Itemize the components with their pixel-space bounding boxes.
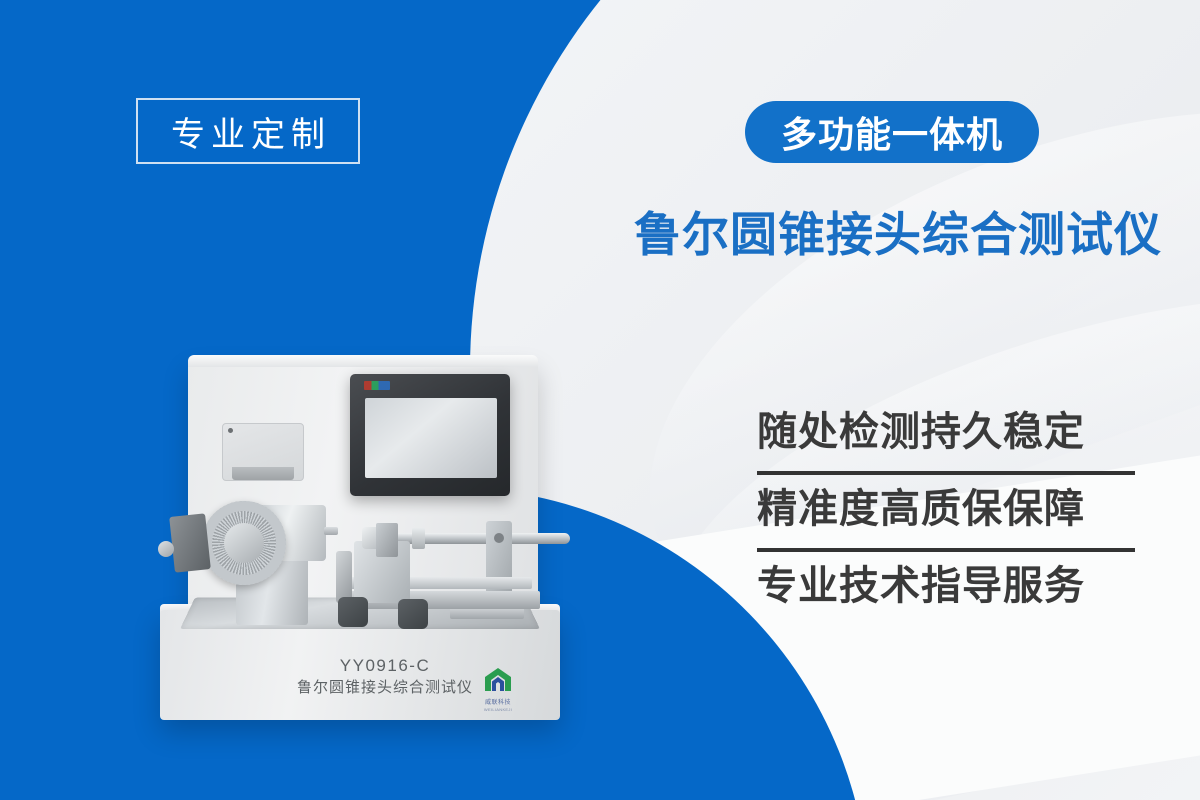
rotary-dial-hub	[224, 523, 264, 563]
feature-item: 专业技术指导服务	[757, 558, 1137, 635]
fixture-post	[336, 551, 352, 603]
adjustment-knob-left	[338, 597, 368, 627]
rotary-clamp-arm	[169, 513, 211, 572]
clamp-jaw	[376, 523, 398, 557]
product-banner: 专业定制 多功能一体机 鲁尔圆锥接头综合测试仪 随处检测持久稳定 精准度高质保保…	[0, 0, 1200, 800]
brand-name-text: 威联科技	[475, 699, 521, 707]
bracket-bore-hole	[494, 533, 504, 543]
brand-chevron-icon	[483, 667, 513, 693]
machine-model-number: YY0916-C	[270, 655, 500, 677]
feature-text: 专业技术指导服务	[757, 558, 1137, 614]
feature-text: 随处检测持久稳定	[757, 404, 1137, 460]
product-category-pill: 多功能一体机	[745, 101, 1039, 163]
feature-divider	[757, 548, 1135, 552]
product-machine-image: YY0916-C 鲁尔圆锥接头综合测试仪 威联科技 WEILIANKEJI	[150, 355, 570, 755]
machine-product-name: 鲁尔圆锥接头综合测试仪	[270, 677, 500, 698]
feature-text: 精准度高质保保障	[757, 481, 1137, 537]
machine-front-label: YY0916-C 鲁尔圆锥接头综合测试仪	[270, 655, 500, 698]
machine-console-top-edge	[188, 355, 538, 367]
feature-divider	[757, 471, 1135, 475]
adjustment-knob-right	[398, 599, 428, 629]
machine-hmi-bezel	[350, 374, 510, 496]
machine-access-panel-handle	[232, 467, 294, 480]
custom-service-badge: 专业定制	[136, 98, 360, 164]
machine-hmi-screen	[365, 398, 497, 478]
feature-item: 精准度高质保保障	[757, 481, 1137, 558]
product-category-pill-label: 多功能一体机	[781, 106, 1003, 158]
brand-pinyin-text: WEILIANKEJI	[475, 707, 521, 713]
product-title: 鲁尔圆锥接头综合测试仪	[634, 196, 1162, 265]
feature-item: 随处检测持久稳定	[757, 404, 1137, 481]
rotary-fixture-pin	[324, 527, 338, 535]
feature-list: 随处检测持久稳定 精准度高质保保障 专业技术指导服务	[757, 404, 1137, 635]
rotary-adjust-knob	[158, 541, 174, 557]
machine-indicator-dot	[228, 428, 233, 433]
shaft-collar	[412, 528, 425, 549]
custom-service-badge-label: 专业定制	[165, 107, 331, 156]
hmi-brand-logo-icon	[364, 381, 390, 390]
manufacturer-brand-logo: 威联科技 WEILIANKEJI	[475, 667, 521, 713]
